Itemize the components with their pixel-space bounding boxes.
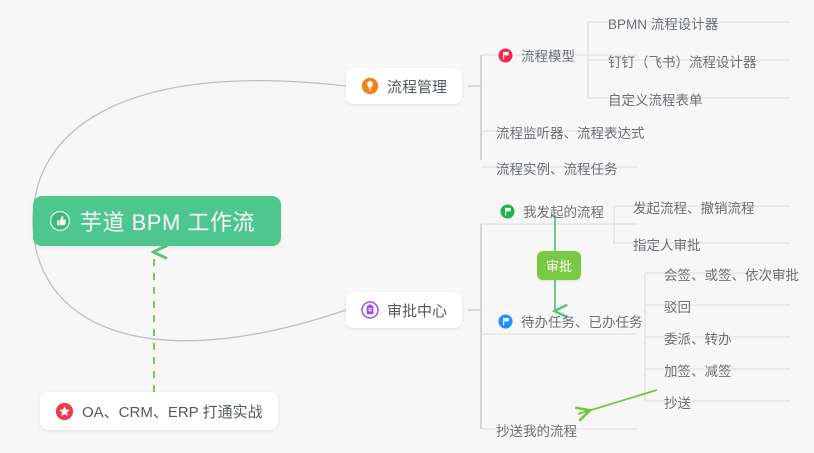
node-assignee-approval-label: 指定人审批	[633, 234, 701, 254]
node-custom-process-form-label: 自定义流程表单	[608, 89, 703, 109]
root-node[interactable]: 芋道 BPM 工作流	[33, 196, 281, 246]
node-bottom-note[interactable]: OA、CRM、ERP 打通实战	[40, 392, 278, 430]
node-cc[interactable]: 抄送	[658, 387, 697, 417]
blue-flag-icon	[498, 314, 513, 329]
node-process-listener-expression[interactable]: 流程监听器、流程表达式	[490, 117, 651, 147]
node-bottom-note-label: OA、CRM、ERP 打通实战	[82, 401, 263, 422]
red-flag-icon	[498, 48, 513, 63]
node-custom-process-form[interactable]: 自定义流程表单	[602, 84, 709, 114]
lightbulb-pin-icon	[361, 77, 379, 95]
node-cc-label: 抄送	[664, 392, 691, 412]
red-star-icon	[55, 402, 74, 421]
node-add-remove-sign-label: 加签、减签	[664, 360, 732, 380]
node-add-remove-sign[interactable]: 加签、减签	[658, 355, 738, 385]
node-approval-center[interactable]: 审批中心	[346, 292, 462, 328]
clipboard-icon	[361, 301, 379, 319]
node-process-model[interactable]: 流程模型	[492, 40, 581, 70]
node-assignee-approval[interactable]: 指定人审批	[627, 229, 707, 259]
node-cc-to-me-process-label: 抄送我的流程	[496, 420, 577, 440]
node-dingtalk-designer-label: 钉钉（飞书）流程设计器	[608, 51, 757, 71]
node-todo-done-task[interactable]: 待办任务、已办任务	[492, 306, 649, 336]
node-bpmn-designer-label: BPMN 流程设计器	[608, 13, 718, 33]
node-bpmn-designer[interactable]: BPMN 流程设计器	[602, 8, 724, 38]
node-multi-sign[interactable]: 会签、或签、依次审批	[658, 259, 805, 289]
approval-badge: 审批	[537, 251, 581, 280]
node-process-management-label: 流程管理	[387, 76, 447, 97]
node-process-listener-expression-label: 流程监听器、流程表达式	[496, 122, 645, 142]
node-approval-center-label: 审批中心	[387, 300, 447, 321]
node-start-cancel-process-label: 发起流程、撤销流程	[633, 197, 755, 217]
mindmap-canvas: 芋道 BPM 工作流 流程管理 流程模型 BPMN 流程设计器 钉钉（飞书）流程	[0, 0, 814, 453]
node-process-instance-task[interactable]: 流程实例、流程任务	[490, 153, 624, 183]
node-delegate-transfer[interactable]: 委派、转办	[658, 323, 738, 353]
node-process-instance-task-label: 流程实例、流程任务	[496, 158, 618, 178]
node-reject[interactable]: 驳回	[658, 291, 697, 321]
node-process-model-label: 流程模型	[521, 45, 575, 65]
root-label: 芋道 BPM 工作流	[80, 205, 255, 237]
node-reject-label: 驳回	[664, 296, 691, 316]
node-cc-to-me-process[interactable]: 抄送我的流程	[490, 415, 583, 445]
green-flag-icon	[500, 204, 515, 219]
node-dingtalk-designer[interactable]: 钉钉（飞书）流程设计器	[602, 46, 763, 76]
thumbs-up-icon	[49, 210, 71, 232]
node-start-cancel-process[interactable]: 发起流程、撤销流程	[627, 192, 761, 222]
node-my-initiated-process-label: 我发起的流程	[523, 201, 604, 221]
node-delegate-transfer-label: 委派、转办	[664, 328, 732, 348]
node-process-management[interactable]: 流程管理	[346, 68, 462, 104]
approval-badge-label: 审批	[546, 259, 572, 274]
arrow-cc-to-ccmine	[578, 390, 657, 414]
node-my-initiated-process[interactable]: 我发起的流程	[494, 196, 610, 226]
node-todo-done-task-label: 待办任务、已办任务	[521, 311, 643, 331]
node-multi-sign-label: 会签、或签、依次审批	[664, 264, 799, 284]
